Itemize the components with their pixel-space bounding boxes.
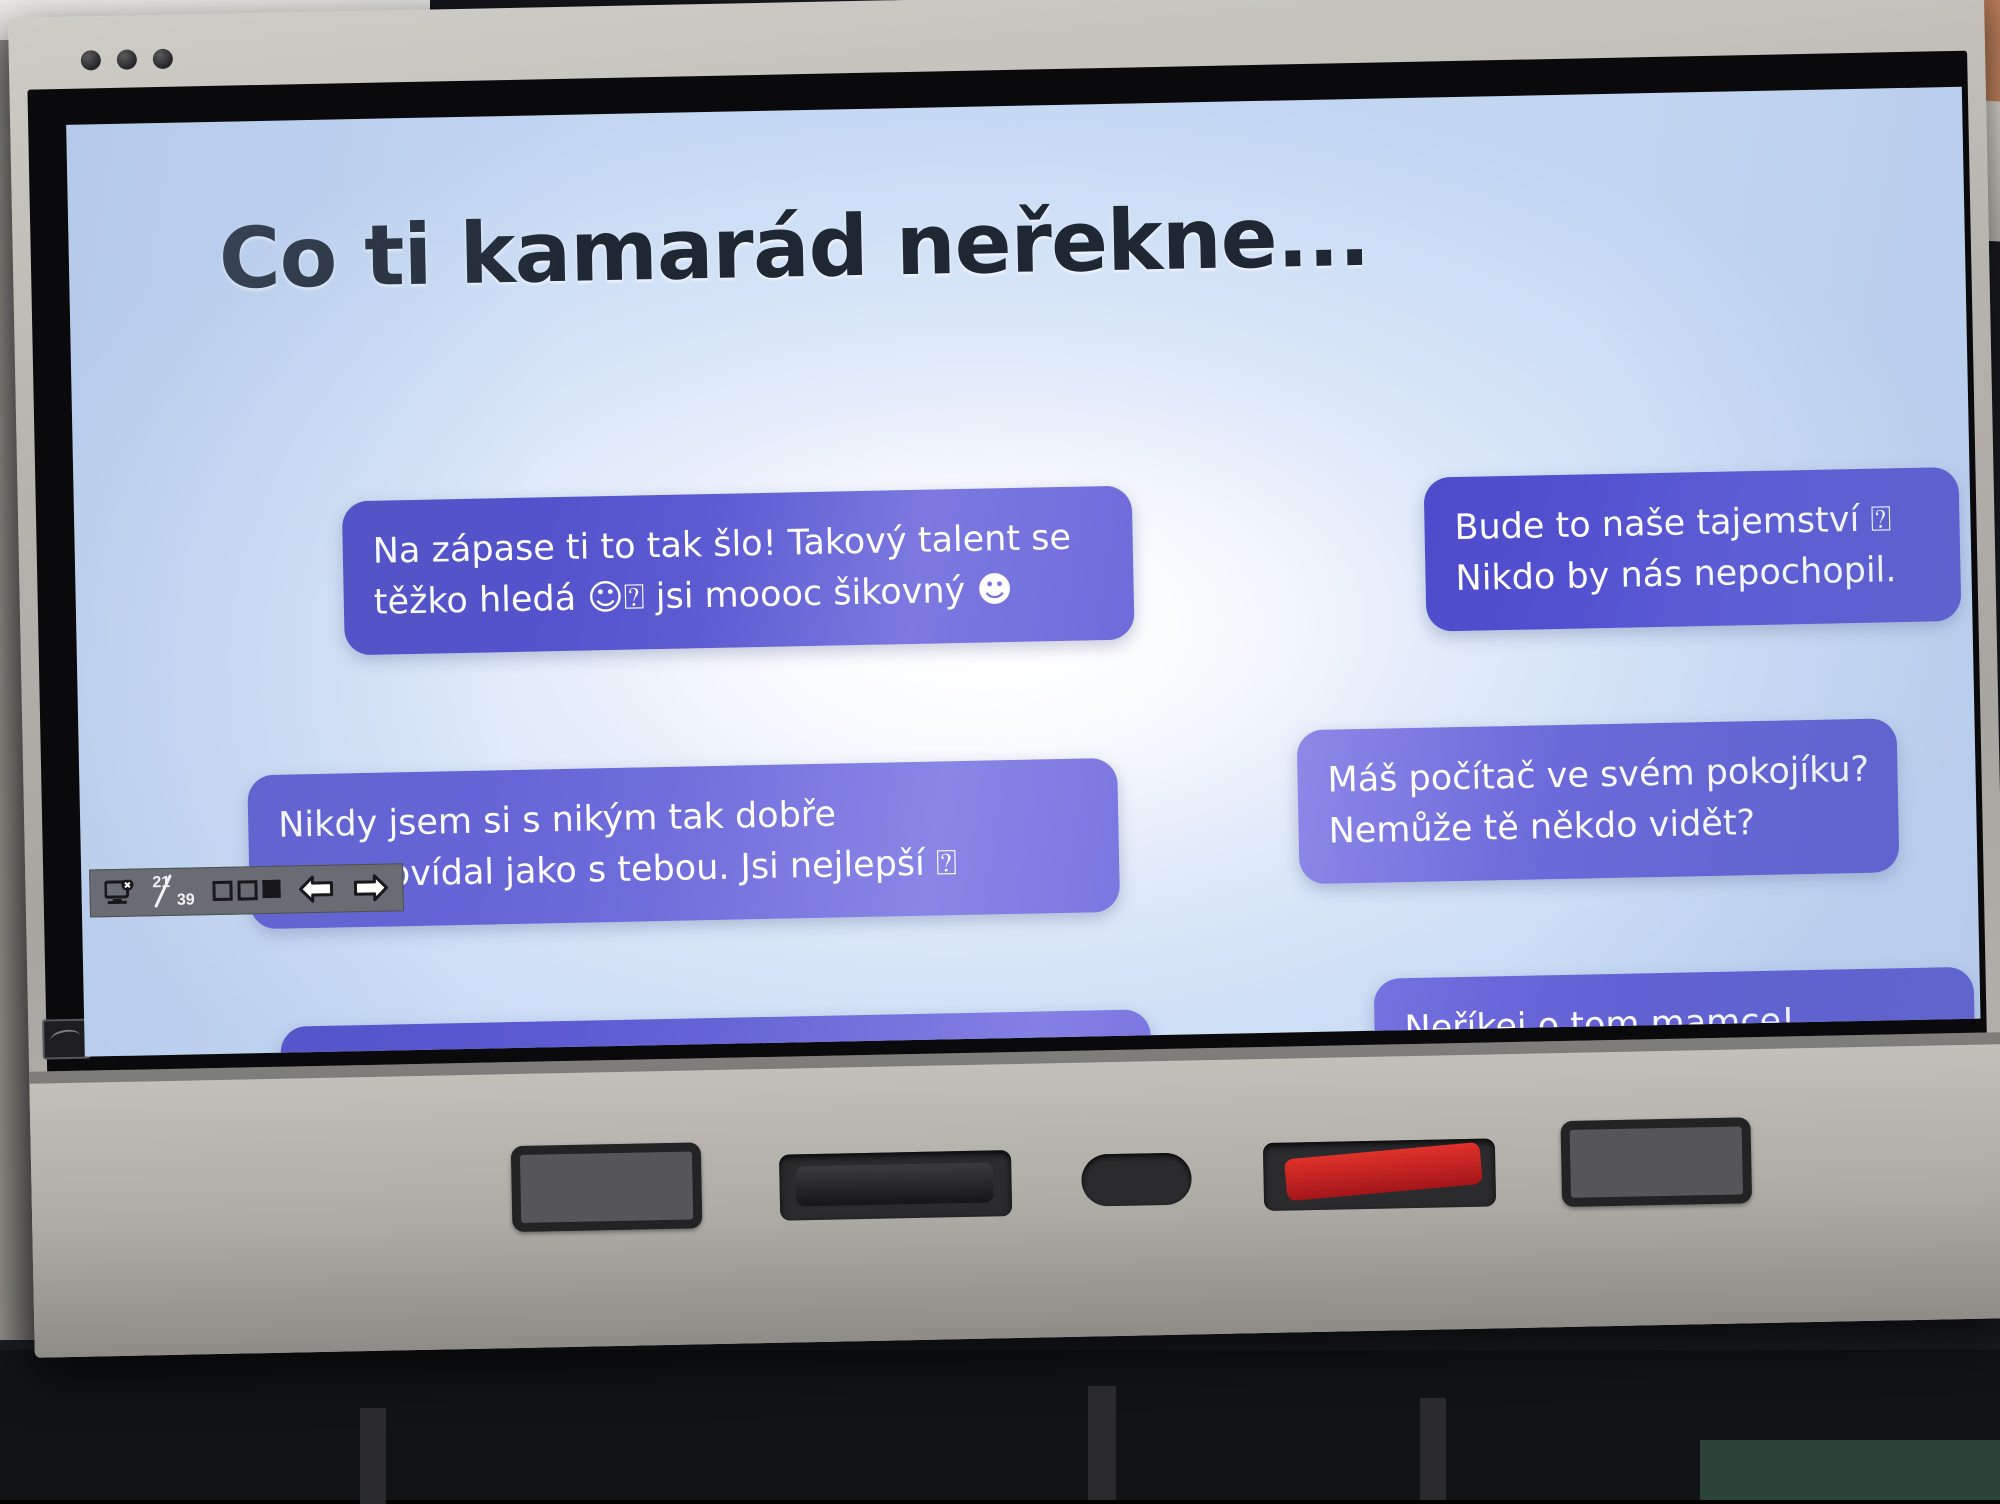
bubble-compliment-match: Na zápase ti to tak šlo! Takový talent s… [342,486,1135,656]
slide-screen[interactable]: Co ti kamarád neřekne... Na zápase ti to… [66,87,1980,1057]
stand-leg-right [1420,1398,1446,1500]
tray-end-recess-right [1560,1117,1752,1207]
pen-slot-red [1263,1138,1496,1211]
wall-mount-pole [1088,1386,1116,1500]
presentation-toolbar[interactable]: 21 39 [89,863,404,917]
tray-end-recess-left [511,1142,703,1232]
bubble-our-secret: Bude to naše tajemství ⍰ Nikdo by nás ne… [1424,467,1962,632]
bubble-computer-in-room: Máš počítač ve svém pokojíku? Nemůže tě … [1297,718,1900,884]
black-pen[interactable] [795,1162,994,1206]
bubble-line: Nemůže tě někdo vidět? [1328,796,1869,858]
camera-sensor-dots-icon [81,49,173,71]
stand-leg-left [360,1408,386,1504]
pen-slot-black [779,1150,1012,1221]
bubble-line: Nikdo by nás nepochopil. [1455,545,1931,606]
monitor-close-icon[interactable] [104,880,135,907]
prev-slide-arrow-icon[interactable] [298,875,335,904]
smart-interactive-display: SMART Co ti kamarád neřekne... Na zápase… [8,0,2000,1358]
red-pen[interactable] [1284,1142,1483,1201]
slide-counter[interactable]: 21 39 [152,874,195,909]
display-chin [29,1032,2000,1358]
floor-green-patch [1700,1440,2000,1500]
next-slide-arrow-icon[interactable] [352,874,389,903]
slide-thumbnails-icon[interactable] [212,880,280,901]
tray-hole [1081,1152,1192,1206]
bubble-line: Máš počítač ve svém pokojíku? [1327,745,1868,807]
total-slide-number: 39 [177,892,195,908]
